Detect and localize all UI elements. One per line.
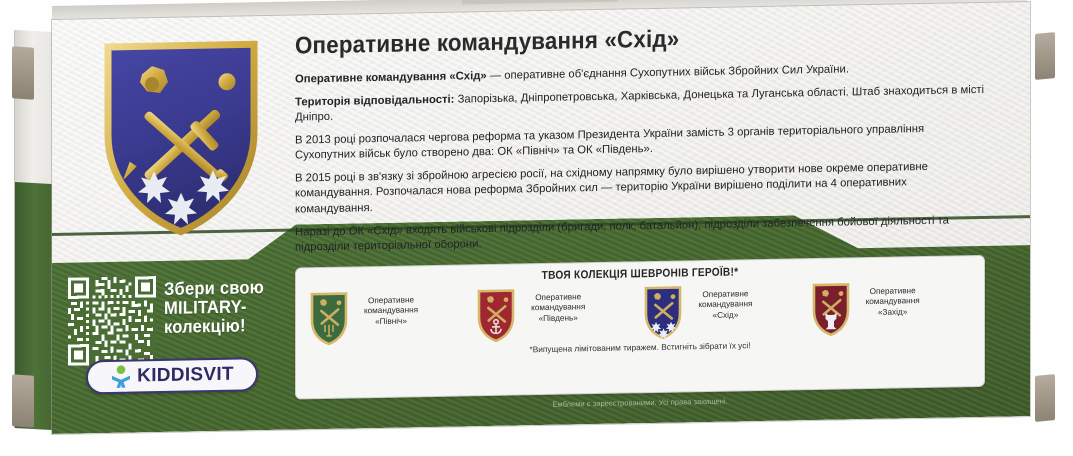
brand-logo-kiddisvit: KIDDISVIT	[86, 357, 258, 394]
slogan-line-1: Збери свою	[164, 278, 284, 299]
patch-shield-pivden	[477, 289, 515, 344]
paragraph-2015: В 2015 році в зв'язку зі збройною агресі…	[295, 159, 985, 217]
paragraph-territory: Територія відповідальності: Запорізька, …	[295, 83, 985, 126]
paragraph-lead: Територія відповідальності:	[295, 94, 454, 109]
patch-label: Оперативне командування «Схід»	[688, 284, 762, 321]
paragraph-definition: Оперативне командування «Схід» — операти…	[295, 60, 985, 88]
emblem-shield-skhid	[98, 36, 264, 239]
paragraph-lead: Оперативне командування «Схід»	[295, 70, 487, 86]
box-front-face: Оперативне командування «Схід» Оперативн…	[52, 2, 1030, 434]
slogan-line-2: MILITARY-	[164, 297, 284, 318]
patch-label-line3: «Південь»	[521, 313, 595, 325]
box-tab-bottom-left	[12, 374, 34, 428]
list-item[interactable]: Оперативне командування «Захід»	[812, 280, 970, 337]
box-tab-top-right	[1035, 32, 1055, 80]
list-item[interactable]: Оперативне командування «Південь»	[477, 286, 635, 343]
patch-label: Оперативне командування «Захід»	[856, 281, 930, 318]
patch-label-line3: «Схід»	[688, 309, 762, 321]
package-photo: Оперативне командування «Схід» Оперативн…	[0, 0, 1073, 456]
list-item[interactable]: Оперативне командування «Схід»	[644, 283, 802, 340]
patch-label-line2: командування	[688, 299, 762, 311]
paragraph-text: — оперативне об'єднання Сухопутних війсь…	[487, 64, 849, 83]
patch-shield-skhid	[644, 285, 682, 340]
box-tab-top-left	[12, 46, 34, 100]
patch-shield-zakhid	[812, 282, 850, 337]
patch-label: Оперативне командування «Південь»	[521, 287, 595, 324]
patch-label-line2: командування	[521, 302, 595, 314]
list-item[interactable]: Оперативне командування «Північ»	[310, 289, 468, 346]
paragraph-2013: В 2013 році розпочалася чергова реформа …	[295, 121, 985, 164]
slogan-line-3: колекцію!	[164, 316, 284, 337]
patch-label-line2: командування	[354, 305, 428, 317]
promo-slogan: Збери свою MILITARY- колекцію!	[164, 278, 284, 337]
box-tab-bottom-right	[1035, 374, 1055, 422]
collection-card: ТВОЯ КОЛЕКЦІЯ ШЕВРОНІВ ГЕРОЇВ!*	[295, 255, 985, 400]
patch-list: Оперативне командування «Північ»	[296, 274, 984, 347]
patch-label: Оперативне командування «Північ»	[354, 290, 428, 327]
paragraph-current: Наразі до ОК «Схід» входять військові пі…	[295, 212, 985, 255]
paragraph-text: В 2015 році в зв'язку зі збройною агресі…	[295, 161, 928, 215]
qr-code[interactable]	[68, 276, 156, 366]
paragraph-text: Наразі до ОК «Схід» входять військові пі…	[295, 214, 949, 253]
patch-label-line3: «Північ»	[354, 316, 428, 328]
kiddisvit-person-icon	[110, 365, 132, 389]
description-block: Оперативне командування «Схід» Оперативн…	[295, 21, 985, 263]
paragraph-text: В 2013 році розпочалася чергова реформа …	[295, 123, 924, 162]
patch-label-line2: командування	[856, 296, 930, 308]
patch-label-line3: «Захід»	[856, 306, 930, 318]
brand-name: KIDDISVIT	[137, 364, 234, 388]
patch-shield-pivnich	[310, 292, 348, 347]
